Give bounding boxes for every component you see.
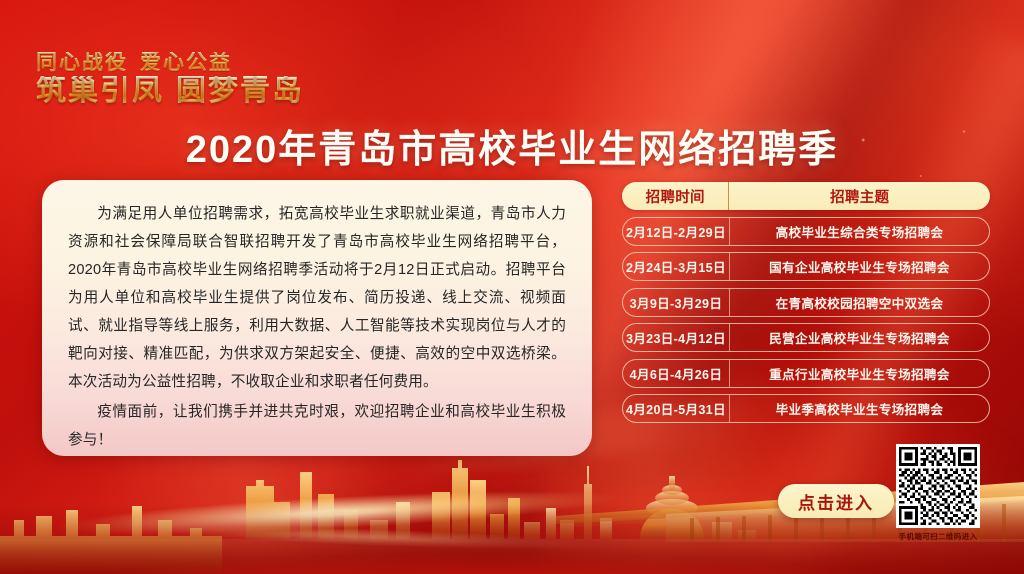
recruitment-schedule-table: 招聘时间 招聘主题 2月12日-2月29日 高校毕业生综合类专场招聘会 2月24… — [622, 182, 990, 429]
cell-topic: 民营企业高校毕业生专场招聘会 — [730, 324, 989, 351]
qr-code-caption: 手机端可扫二维码进入 — [896, 531, 980, 542]
column-header-topic: 招聘主题 — [729, 182, 990, 210]
description-paragraph-1: 为满足用人单位招聘需求，拓宽高校毕业生求职就业渠道，青岛市人力资源和社会保障局联… — [68, 200, 566, 396]
slogan-line-2-part-b: 圆梦青岛 — [176, 74, 304, 107]
enter-button[interactable]: 点击进入 — [778, 484, 894, 518]
cell-time: 2月24日-3月15日 — [623, 253, 730, 280]
cell-topic: 毕业季高校毕业生专场招聘会 — [730, 395, 989, 422]
column-header-time: 招聘时间 — [622, 182, 729, 210]
cell-topic: 在青高校校园招聘空中双选会 — [730, 289, 989, 316]
qr-code-image[interactable] — [896, 444, 980, 528]
cell-time: 4月6日-4月26日 — [623, 360, 730, 387]
table-header-row: 招聘时间 招聘主题 — [622, 182, 990, 210]
slogan-line-2-part-a: 筑巢引凤 — [36, 74, 164, 107]
light-trail-primary — [0, 451, 721, 560]
poster-canvas: 同心战役爱心公益 筑巢引凤圆梦青岛 2020年青岛市高校毕业生网络招聘季 为满足… — [0, 0, 1024, 574]
qr-code-block: 手机端可扫二维码进入 — [896, 444, 980, 542]
cell-topic: 重点行业高校毕业生专场招聘会 — [730, 360, 989, 387]
cell-topic: 国有企业高校毕业生专场招聘会 — [730, 253, 989, 280]
slogan-line-1-part-a: 同心战役 — [36, 51, 128, 74]
table-row[interactable]: 4月20日-5月31日 毕业季高校毕业生专场招聘会 — [622, 394, 990, 423]
description-paragraph-2: 疫情面前，让我们携手并进共克时艰，欢迎招聘企业和高校毕业生积极参与！ — [68, 398, 566, 454]
slogan-line-1-part-b: 爱心公益 — [140, 51, 232, 74]
table-row[interactable]: 2月24日-3月15日 国有企业高校毕业生专场招聘会 — [622, 252, 990, 281]
page-title: 2020年青岛市高校毕业生网络招聘季 — [0, 118, 1024, 173]
cell-topic: 高校毕业生综合类专场招聘会 — [730, 218, 989, 245]
slogan-line-2: 筑巢引凤圆梦青岛 — [36, 76, 304, 106]
table-row[interactable]: 4月6日-4月26日 重点行业高校毕业生专场招聘会 — [622, 359, 990, 388]
cell-time: 3月23日-4月12日 — [623, 324, 730, 351]
campaign-slogan-logo: 同心战役爱心公益 筑巢引凤圆梦青岛 — [36, 52, 304, 106]
cell-time: 4月20日-5月31日 — [623, 395, 730, 422]
table-row[interactable]: 3月23日-4月12日 民营企业高校毕业生专场招聘会 — [622, 323, 990, 352]
table-row[interactable]: 3月9日-3月29日 在青高校校园招聘空中双选会 — [622, 288, 990, 317]
slogan-line-1: 同心战役爱心公益 — [36, 52, 304, 73]
cell-time: 2月12日-2月29日 — [623, 218, 730, 245]
cell-time: 3月9日-3月29日 — [623, 289, 730, 316]
light-trail-secondary — [79, 505, 700, 567]
description-card: 为满足用人单位招聘需求，拓宽高校毕业生求职就业渠道，青岛市人力资源和社会保障局联… — [42, 180, 592, 456]
table-row[interactable]: 2月12日-2月29日 高校毕业生综合类专场招聘会 — [622, 217, 990, 246]
